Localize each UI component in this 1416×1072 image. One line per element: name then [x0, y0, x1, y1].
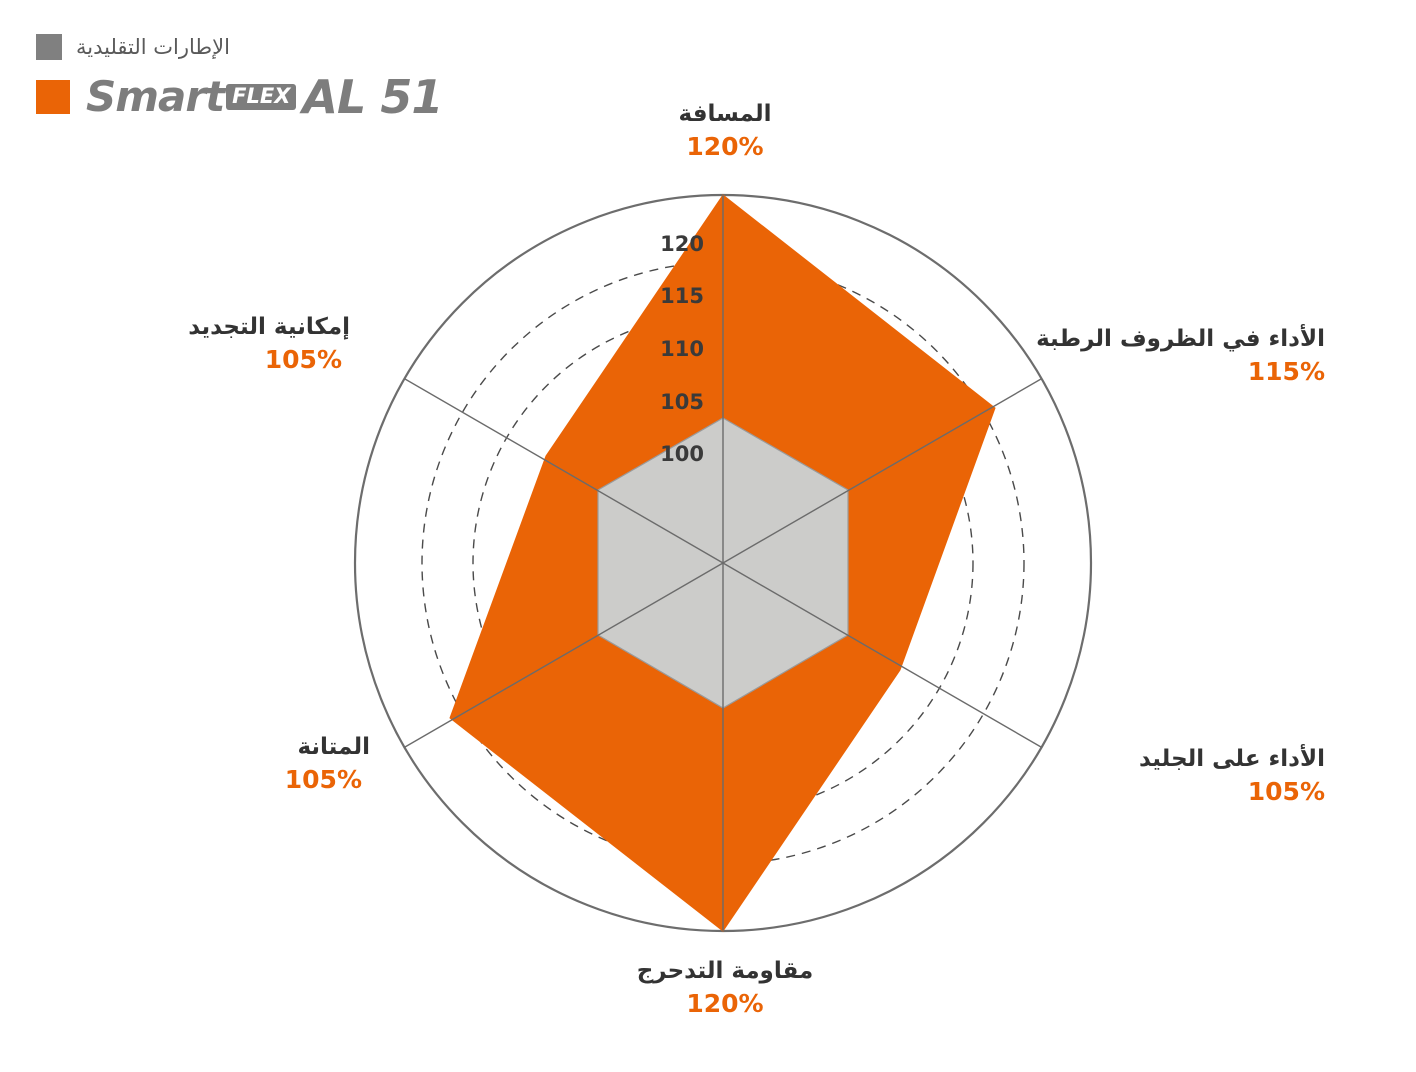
axis-label-durability-value: 105%: [120, 764, 370, 797]
axis-label-ice-performance: الأداء على الجليد 105%: [1075, 745, 1325, 808]
axis-label-wet-performance-value: 115%: [1075, 356, 1325, 389]
axis-label-ice-performance-name: الأداء على الجليد: [1075, 745, 1325, 774]
axis-label-rolling-resistance-name: مقاومة التدحرج: [565, 957, 885, 986]
axis-label-retreadability-value: 105%: [100, 344, 350, 377]
axis-label-rolling-resistance: مقاومة التدحرج 120%: [565, 957, 885, 1020]
axis-label-retreadability-name: إمكانية التجديد: [100, 313, 350, 342]
axis-label-wet-performance: الأداء في الظروف الرطبة 115%: [1075, 325, 1325, 388]
tick-label-105: 105: [646, 390, 704, 414]
axis-label-wet-performance-name: الأداء في الظروف الرطبة: [1075, 325, 1325, 354]
tick-label-120: 120: [646, 232, 704, 256]
tick-label-100: 100: [646, 442, 704, 466]
tick-label-110: 110: [646, 337, 704, 361]
axis-label-distance-name: المسافة: [565, 100, 885, 129]
axis-label-rolling-resistance-value: 120%: [565, 988, 885, 1021]
axis-label-ice-performance-value: 105%: [1075, 776, 1325, 809]
tick-label-115: 115: [646, 284, 704, 308]
axis-label-distance: المسافة 120%: [565, 100, 885, 163]
axis-label-durability: المتانة 105%: [120, 733, 370, 796]
radar-chart-page: الإطارات التقليدية Smart FLEX AL 51: [0, 0, 1416, 1072]
axis-label-durability-name: المتانة: [120, 733, 370, 762]
axis-label-retreadability: إمكانية التجديد 105%: [100, 313, 350, 376]
axis-label-distance-value: 120%: [565, 131, 885, 164]
